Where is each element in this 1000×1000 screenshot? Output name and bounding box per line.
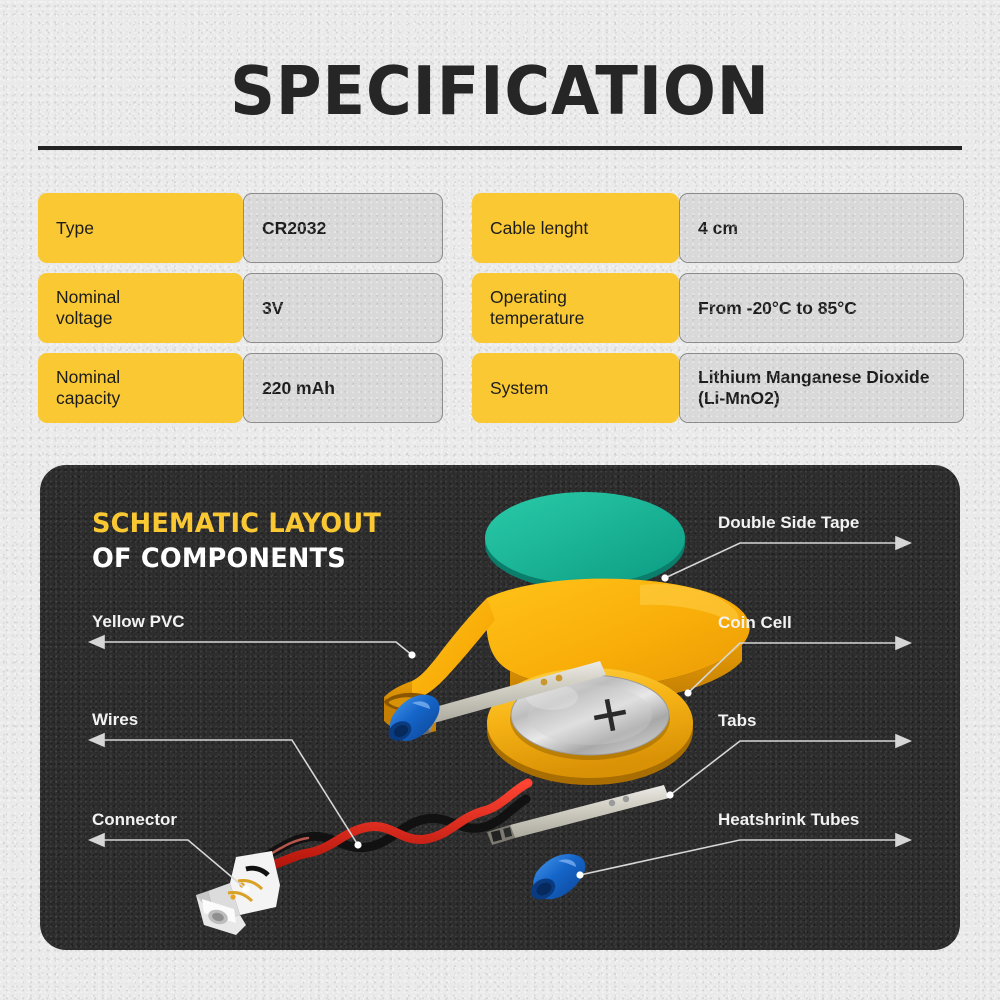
spec-value-system: Lithium Manganese Dioxide (Li-MnO2) bbox=[679, 353, 964, 423]
page-title: SPECIFICATION bbox=[35, 52, 965, 130]
spec-value-operating-temperature: From -20°C to 85°C bbox=[679, 273, 964, 343]
spec-label-cable-lenght: Cable lenght bbox=[472, 193, 679, 263]
callout-label-heatshrink-tubes: Heatshrink Tubes bbox=[718, 810, 859, 830]
spec-label-system: System bbox=[472, 353, 679, 423]
spec-value-cable-lenght: 4 cm bbox=[679, 193, 964, 263]
wires-part bbox=[248, 783, 528, 867]
callout-label-double-side-tape: Double Side Tape bbox=[718, 513, 859, 533]
callout-label-coin-cell: Coin Cell bbox=[718, 613, 792, 633]
double-side-tape-part bbox=[485, 492, 685, 590]
callout-label-wires: Wires bbox=[92, 710, 138, 730]
specification-table: Type CR2032 Cable lenght 4 cm Nominal vo… bbox=[38, 193, 964, 433]
exploded-view-illustration: ROMETECH 3V Lithium bbox=[40, 465, 960, 950]
title-divider bbox=[38, 146, 962, 150]
spec-value-nominal-capacity: 220 mAh bbox=[243, 353, 443, 423]
column-gap bbox=[443, 193, 472, 263]
spec-label-operating-temperature: Operating temperature bbox=[472, 273, 679, 343]
callout-label-yellow-pvc: Yellow PVC bbox=[92, 612, 185, 632]
spec-value-nominal-voltage: 3V bbox=[243, 273, 443, 343]
callout-label-connector: Connector bbox=[92, 810, 177, 830]
spec-label-type: Type bbox=[38, 193, 243, 263]
spec-label-nominal-capacity: Nominal capacity bbox=[38, 353, 243, 423]
spec-label-nominal-voltage: Nominal voltage bbox=[38, 273, 243, 343]
callout-label-tabs: Tabs bbox=[718, 711, 756, 731]
column-gap bbox=[443, 273, 472, 343]
connector-part bbox=[196, 851, 280, 935]
spec-value-type: CR2032 bbox=[243, 193, 443, 263]
heatshrink-tube-lower-part bbox=[527, 854, 585, 904]
schematic-panel: SCHEMATIC LAYOUT OF COMPONENTS bbox=[40, 465, 960, 950]
column-gap bbox=[443, 353, 472, 423]
